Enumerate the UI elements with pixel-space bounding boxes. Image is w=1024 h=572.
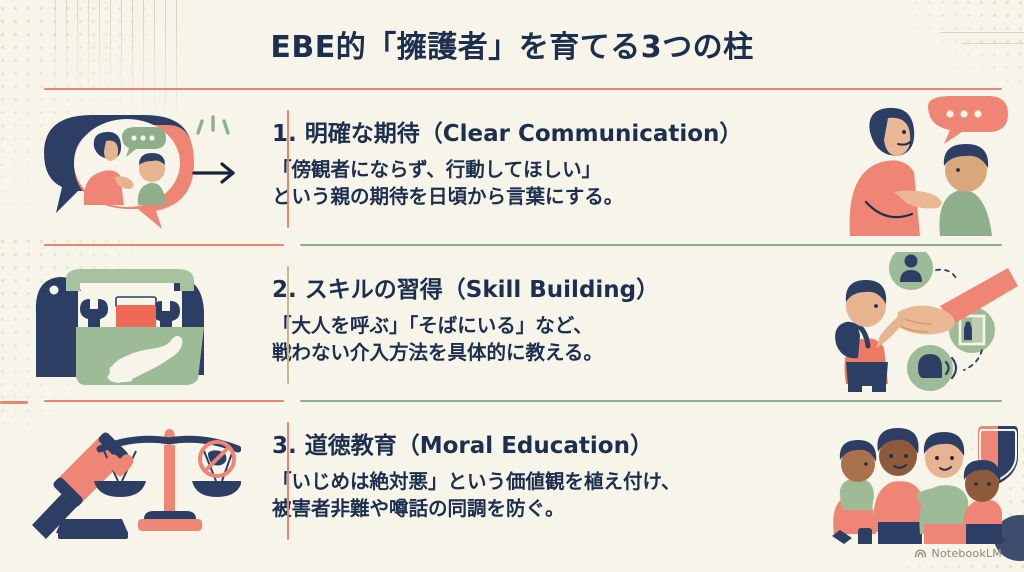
pillar-3-heading: 3. 道徳教育（Moral Education） <box>272 433 824 459</box>
divider-top <box>44 88 1002 90</box>
pillar-list: 1. 明確な期待（Clear Communication） 「傍観者にならず、行… <box>0 88 1024 556</box>
notebooklm-logo-icon <box>914 547 927 560</box>
pillar-row-1: 1. 明確な期待（Clear Communication） 「傍観者にならず、行… <box>0 88 1024 244</box>
pillar-3-description-line-1: 「いじめは絶対悪」という価値観を植え付け、 <box>272 469 824 496</box>
notebooklm-watermark: NotebookLM <box>914 547 1002 560</box>
parent-talking-to-child-illustration <box>836 96 1016 236</box>
watermark-label: NotebookLM <box>932 547 1002 560</box>
pillar-2-text: 2. スキルの習得（Skill Building） 「大人を呼ぶ」「そばにいる」… <box>250 277 828 366</box>
pillar-1-text: 1. 明確な期待（Clear Communication） 「傍観者にならず、行… <box>250 121 828 210</box>
pillar-2-heading: 2. スキルの習得（Skill Building） <box>272 277 824 303</box>
pillar-2-description-line-2: 戦わない介入方法を具体的に教える。 <box>272 340 824 367</box>
pillar-1-description-line-1: 「傍観者にならず、行動してほしい」 <box>272 157 824 184</box>
infographic-slide: EBE的「擁護者」を育てる3つの柱 <box>0 0 1024 572</box>
pillar-2-description-line-1: 「大人を呼ぶ」「そばにいる」など、 <box>272 313 824 340</box>
pillar-1-heading: 1. 明確な期待（Clear Communication） <box>272 121 824 147</box>
pillar-3-left-icon <box>0 415 250 541</box>
pillar-1-right-icon <box>828 96 1024 236</box>
pillar-1-description-line-2: という親の期待を日頃から言葉にする。 <box>272 184 824 211</box>
pillar-row-2: 2. スキルの習得（Skill Building） 「大人を呼ぶ」「そばにいる」… <box>0 244 1024 400</box>
pillar-2-right-icon <box>828 252 1024 392</box>
gavel-and-scales-of-justice-illustration <box>26 415 241 541</box>
child-reaching-adult-hand-illustration <box>832 252 1020 392</box>
divider-middle-1 <box>44 244 1002 246</box>
pillar-3-right-icon <box>828 412 1024 544</box>
vertical-separator-2 <box>287 266 289 384</box>
pillar-row-3: 3. 道徳教育（Moral Education） 「いじめは絶対悪」という価値観… <box>0 400 1024 556</box>
divider-middle-2 <box>44 400 1002 402</box>
page-title: EBE的「擁護者」を育てる3つの柱 <box>0 22 1024 66</box>
toolbox-with-tools-illustration <box>26 257 241 387</box>
pillar-3-description-line-2: 被害者非難や噂話の同調を防ぐ。 <box>272 496 824 523</box>
group-of-children-with-shield-illustration <box>830 412 1022 544</box>
speech-bubbles-conversation-illustration <box>26 101 241 231</box>
pillar-2-left-icon <box>0 257 250 387</box>
vertical-separator-3 <box>287 422 289 540</box>
vertical-separator-1 <box>287 110 289 228</box>
pillar-3-text: 3. 道徳教育（Moral Education） 「いじめは絶対悪」という価値観… <box>250 433 828 522</box>
pillar-1-left-icon <box>0 101 250 231</box>
